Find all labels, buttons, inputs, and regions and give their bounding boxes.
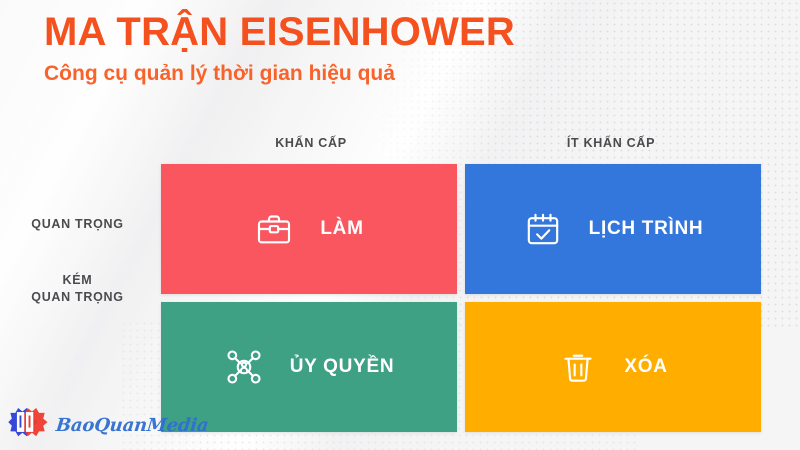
eisenhower-matrix: LÀM LỊCH TRÌNH [161,164,761,432]
quadrant-schedule-label: LỊCH TRÌNH [589,218,704,240]
row-header-not-important-line2: QUAN TRỌNG [0,289,155,306]
column-header-urgent: KHẨN CẤP [161,131,461,155]
watermark: BaoQuanMedia [8,406,208,444]
quadrant-schedule[interactable]: LỊCH TRÌNH [465,164,761,294]
quadrant-do[interactable]: LÀM [161,164,457,294]
column-header-not-urgent: ÍT KHẨN CẤP [461,131,761,155]
bq-badge-icon [8,406,50,444]
quadrant-delete-label: XÓA [624,356,667,378]
quadrant-delegate-label: ỦY QUYỀN [290,356,395,378]
matrix-row-headers: QUAN TRỌNG KÉM QUAN TRỌNG [0,164,155,432]
header: MA TRẬN EISENHOWER Công cụ quản lý thời … [44,8,744,87]
quadrant-do-label: LÀM [320,218,363,240]
row-header-important-line1: QUAN TRỌNG [0,216,155,233]
page-title: MA TRẬN EISENHOWER [44,8,744,57]
watermark-text: BaoQuanMedia [55,415,210,436]
matrix-column-headers: KHẨN CẤP ÍT KHẨN CẤP [161,131,761,155]
trash-icon [558,347,598,387]
row-header-important: QUAN TRỌNG [0,216,155,233]
briefcase-icon [254,209,294,249]
quadrant-grid: LÀM LỊCH TRÌNH [161,164,761,432]
quadrant-delete[interactable]: XÓA [465,302,761,432]
calendar-check-icon [523,209,563,249]
row-header-not-important-line1: KÉM [0,272,155,289]
page-subtitle: Công cụ quản lý thời gian hiệu quả [44,60,744,87]
row-header-not-important: KÉM QUAN TRỌNG [0,272,155,306]
delegate-network-icon [224,347,264,387]
